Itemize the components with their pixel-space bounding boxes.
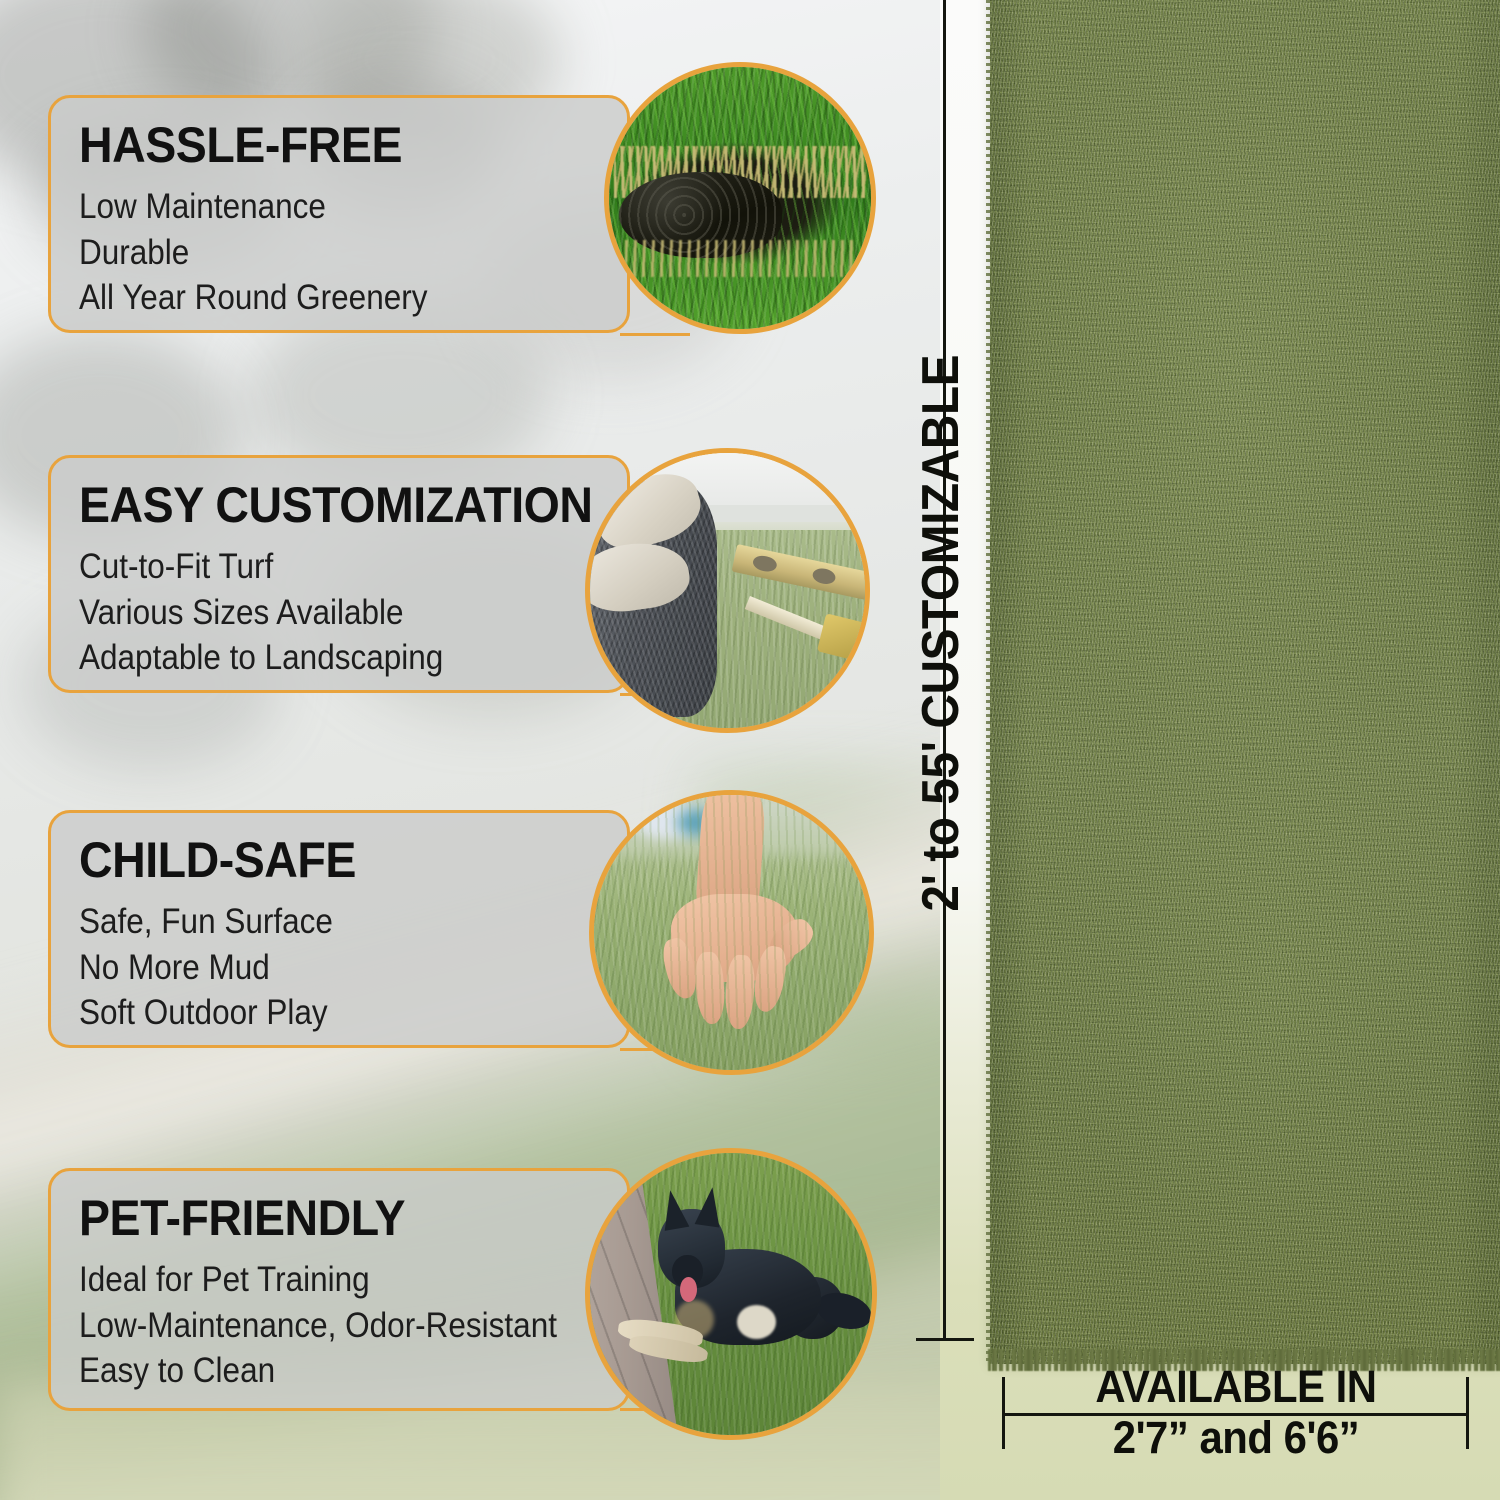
available-sizes-text: 2'7” and 6'6” <box>1019 1415 1452 1461</box>
feature-card-line: Durable <box>79 230 572 276</box>
turf-blades-overlay <box>594 795 869 1070</box>
feature-card-line: Various Sizes Available <box>79 590 572 636</box>
dog-chest-marking <box>737 1305 776 1339</box>
feature-card-title: EASY CUSTOMIZATION <box>79 480 589 530</box>
feature-card-line: Safe, Fun Surface <box>79 899 572 945</box>
feature-card-title: HASSLE-FREE <box>79 120 589 170</box>
photo-dog-on-turf <box>590 1153 872 1435</box>
product-feature-infographic: HASSLE-FREE Low Maintenance Durable All … <box>0 0 1500 1500</box>
feature-card-pet-friendly: PET-FRIENDLY Ideal for Pet Training Low-… <box>48 1168 630 1411</box>
feature-card-line: Ideal for Pet Training <box>79 1257 572 1303</box>
feature-card-line: Soft Outdoor Play <box>79 990 572 1036</box>
photo-hand-on-turf <box>594 795 869 1070</box>
feature-card-easy-customization: EASY CUSTOMIZATION Cut-to-Fit Turf Vario… <box>48 455 630 693</box>
feature-card-line: Low-Maintenance, Odor-Resistant <box>79 1303 572 1349</box>
photo-rolling-turf <box>590 453 865 728</box>
feature-card-title: CHILD-SAFE <box>79 835 589 885</box>
card-connector-line <box>620 333 690 336</box>
turf-roll-product-image <box>990 0 1500 1364</box>
feature-photo-turf-sample <box>604 62 876 334</box>
vertical-dimension-label: 2' to 55' CUSTOMIZABLE <box>905 355 977 1015</box>
available-in-text: AVAILABLE IN <box>1019 1365 1452 1409</box>
feature-photo-dog <box>585 1148 877 1440</box>
feature-photo-installation <box>585 448 870 733</box>
feature-card-hassle-free: HASSLE-FREE Low Maintenance Durable All … <box>48 95 630 333</box>
vertical-dimension-end-cap <box>916 1338 974 1341</box>
feature-card-line: Low Maintenance <box>79 184 572 230</box>
photo-turf-backing <box>609 67 871 329</box>
turf-thatch-layer <box>625 240 856 277</box>
horizontal-dimension-label: AVAILABLE IN 2'7” and 6'6” <box>1003 1365 1469 1461</box>
feature-photo-child-hand <box>589 790 874 1075</box>
vertical-dimension-text: 2' to 55' CUSTOMIZABLE <box>911 355 971 912</box>
paver-walkway <box>585 1148 679 1440</box>
feature-card-title: PET-FRIENDLY <box>79 1193 589 1243</box>
feature-card-child-safe: CHILD-SAFE Safe, Fun Surface No More Mud… <box>48 810 630 1048</box>
feature-card-line: Easy to Clean <box>79 1348 572 1394</box>
feature-card-line: No More Mud <box>79 945 572 991</box>
feature-card-line: Adaptable to Landscaping <box>79 635 572 681</box>
feature-card-line: All Year Round Greenery <box>79 275 572 321</box>
dog-ear <box>695 1185 726 1228</box>
feature-card-line: Cut-to-Fit Turf <box>79 544 572 590</box>
